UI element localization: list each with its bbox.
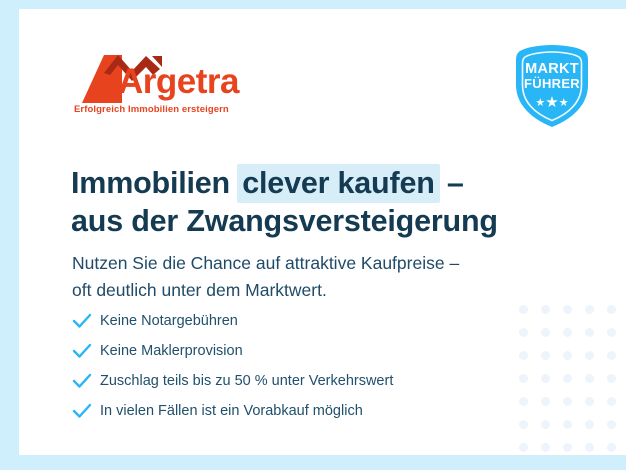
decor-dot (563, 351, 572, 360)
logo-tagline: Erfolgreich Immobilien ersteigern (74, 104, 229, 115)
page-title: Immobilien clever kaufen – aus der Zwang… (71, 165, 591, 241)
headline-part-1: Immobilien (71, 166, 238, 200)
decor-dot (541, 443, 550, 452)
headline-highlight: clever kaufen (237, 164, 439, 203)
decor-dot (541, 374, 550, 383)
decor-dot (607, 443, 616, 452)
decor-dot (541, 305, 550, 314)
decor-dot (585, 305, 594, 314)
headline-part-2: – (439, 166, 464, 200)
decor-dot (563, 305, 572, 314)
list-item-label: Keine Maklerprovision (100, 343, 243, 359)
promo-card: Argetra Erfolgreich Immobilien ersteiger… (19, 9, 626, 455)
check-icon (72, 403, 100, 419)
subtitle-line-2: oft deutlich unter dem Marktwert. (72, 277, 572, 304)
decor-dot (585, 351, 594, 360)
list-item: Keine Maklerprovision (72, 336, 522, 366)
decor-dot (541, 420, 550, 429)
decor-dot (585, 443, 594, 452)
list-item: Keine Notargebühren (72, 306, 522, 336)
subtitle: Nutzen Sie die Chance auf attraktive Kau… (72, 250, 572, 304)
decor-dot (585, 420, 594, 429)
decor-dot (607, 374, 616, 383)
decor-dot (563, 420, 572, 429)
decor-dot (541, 328, 550, 337)
argetra-logo[interactable]: Argetra Erfolgreich Immobilien ersteiger… (74, 51, 284, 121)
list-item-label: Zuschlag teils bis zu 50 % unter Verkehr… (100, 373, 393, 389)
decor-dot (563, 374, 572, 383)
list-item: Zuschlag teils bis zu 50 % unter Verkehr… (72, 366, 522, 396)
decor-dot (585, 328, 594, 337)
benefits-list: Keine Notargebühren Keine Maklerprovisio… (72, 306, 522, 426)
list-item: In vielen Fällen ist ein Vorabkauf mögli… (72, 396, 522, 426)
check-icon (72, 373, 100, 389)
logo-wordmark: Argetra (118, 64, 239, 99)
decor-dot (607, 420, 616, 429)
headline-line-2: aus der Zwangsversteigerung (71, 203, 591, 241)
list-item-label: Keine Notargebühren (100, 313, 238, 329)
decor-dot (519, 443, 528, 452)
decor-dot (607, 305, 616, 314)
shield-icon (510, 43, 594, 129)
check-icon (72, 313, 100, 329)
dot-pattern-decoration (519, 305, 626, 455)
subtitle-line-1: Nutzen Sie die Chance auf attraktive Kau… (72, 250, 572, 277)
decor-dot (541, 397, 550, 406)
decor-dot (563, 443, 572, 452)
decor-dot (541, 351, 550, 360)
decor-dot (607, 397, 616, 406)
decor-dot (607, 351, 616, 360)
check-icon (72, 343, 100, 359)
decor-dot (585, 374, 594, 383)
list-item-label: In vielen Fällen ist ein Vorabkauf mögli… (100, 403, 363, 419)
decor-dot (563, 328, 572, 337)
promo-banner: Argetra Erfolgreich Immobilien ersteiger… (0, 0, 626, 470)
decor-dot (607, 328, 616, 337)
decor-dot (585, 397, 594, 406)
decor-dot (563, 397, 572, 406)
market-leader-badge: MARKT FÜHRER ★★★ (510, 43, 594, 129)
